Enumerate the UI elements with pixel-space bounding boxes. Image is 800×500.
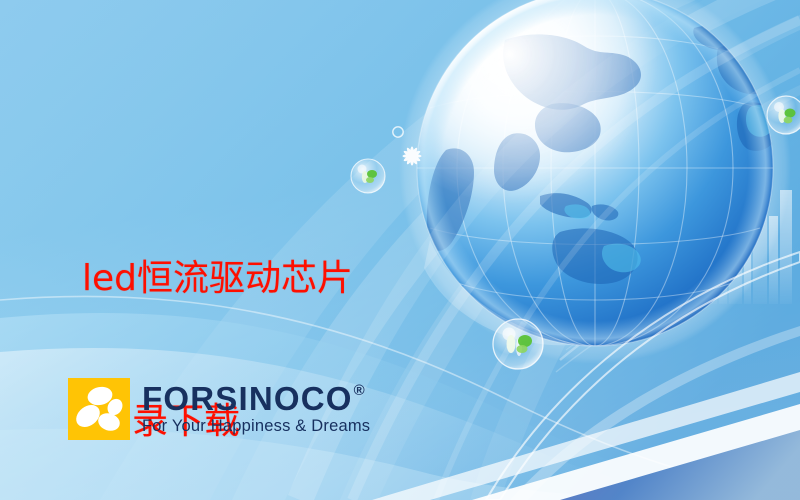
- banner-canvas: led恒流驱动芯片 目录下载 FORSINOCO ® For Your Happ…: [0, 0, 800, 500]
- registered-trademark-icon: ®: [354, 383, 366, 399]
- logo-mark-square: [68, 378, 130, 440]
- brand-name: FORSINOCO ®: [142, 382, 370, 416]
- logo-text-block: FORSINOCO ® For Your Happiness & Dreams: [142, 382, 370, 436]
- brand-tagline: For Your Happiness & Dreams: [142, 417, 370, 436]
- bubble-pinwheel-corner: [767, 96, 800, 134]
- brand-word: FORSINOCO: [142, 382, 353, 416]
- page-title: led恒流驱动芯片 目录下载: [82, 160, 502, 500]
- four-petal-pinwheel-icon: [68, 378, 130, 440]
- headline-line-1: led恒流驱动芯片: [82, 255, 502, 303]
- company-logo[interactable]: FORSINOCO ® For Your Happiness & Dreams: [68, 378, 370, 440]
